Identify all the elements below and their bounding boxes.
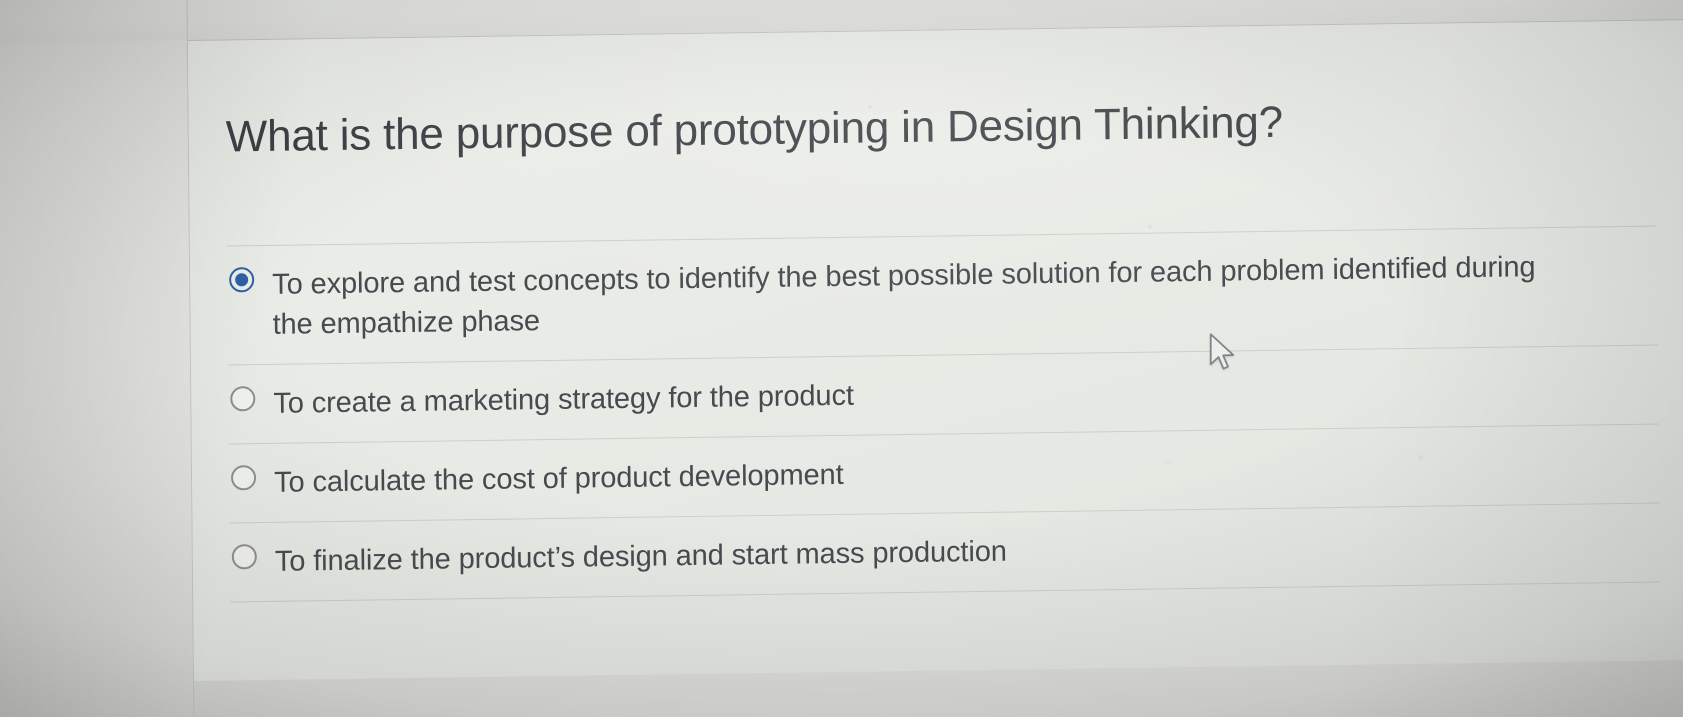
quiz-screen: Question 5 10 pts What is the purpose of… xyxy=(0,0,1683,717)
answer-option-label: To explore and test concepts to identify… xyxy=(272,247,1563,345)
answer-option-label: To create a marketing strategy for the p… xyxy=(273,376,854,424)
radio-button-icon[interactable] xyxy=(231,465,256,490)
answer-option-label: To calculate the cost of product develop… xyxy=(274,455,844,503)
question-text: What is the purpose of prototyping in De… xyxy=(226,94,1556,162)
answer-options-list: To explore and test concepts to identify… xyxy=(227,226,1660,603)
question-number-label: Question 5 xyxy=(226,0,388,1)
question-card: What is the purpose of prototyping in De… xyxy=(188,20,1683,681)
answer-option-1[interactable]: To explore and test concepts to identify… xyxy=(227,226,1658,365)
radio-button-selected-icon[interactable] xyxy=(229,267,254,292)
answer-option-label: To finalize the product’s design and sta… xyxy=(275,532,1007,582)
radio-button-icon[interactable] xyxy=(230,386,255,411)
radio-button-icon[interactable] xyxy=(232,544,257,569)
screen-photo: Question 5 10 pts What is the purpose of… xyxy=(0,0,1683,717)
